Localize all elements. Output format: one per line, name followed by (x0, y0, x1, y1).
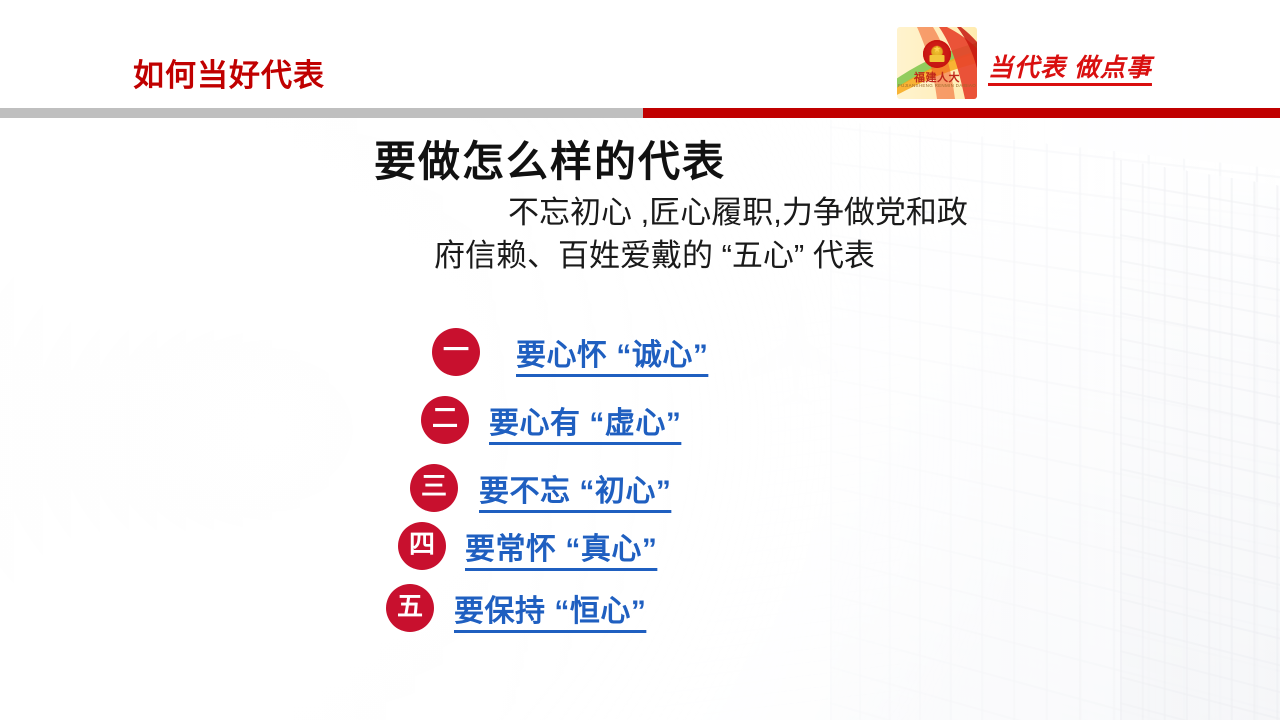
number-badge: 二 (421, 396, 469, 444)
brand-slogan: 当代表 做点事 (988, 48, 1152, 84)
emblem-star-icon: ★ (933, 45, 941, 54)
number-badge: 五 (386, 584, 434, 632)
slide-header: 如何当好代表 (0, 0, 1280, 108)
five-hearts-list: 一 要心怀 “诚心” 二 要心有 “虚心” 三 要不忘 “初心” 四 (0, 118, 1280, 720)
number-badge: 一 (432, 328, 480, 376)
list-item-label[interactable]: 要不忘 “初心” (479, 466, 671, 510)
fujian-renda-logo: ★ 福建人大 FUJIANSHENG RENMIN DAIBIAO (897, 27, 977, 99)
header-rule-red (643, 108, 1280, 118)
brand-organization-pinyin: FUJIANSHENG RENMIN DAIBIAO (897, 83, 977, 88)
header-rule-gray (0, 108, 643, 118)
list-item-label[interactable]: 要保持 “恒心” (454, 586, 646, 630)
emblem-gate-icon (930, 55, 945, 62)
slide-body: 要做怎么样的代表 不忘初心 ,匠心履职,力争做党和政府信赖、百姓爱戴的 “五心”… (0, 118, 1280, 720)
brand-lockup: ★ 福建人大 FUJIANSHENG RENMIN DAIBIAO (897, 27, 977, 99)
number-badge: 三 (410, 464, 458, 512)
slide-canvas: 如何当好代表 (0, 0, 1280, 720)
list-item-label[interactable]: 要心有 “虚心” (489, 398, 681, 442)
page-title: 如何当好代表 (133, 50, 325, 95)
number-badge-label: 一 (443, 338, 469, 364)
list-item-label[interactable]: 要常怀 “真心” (465, 524, 657, 568)
national-emblem-icon: ★ (923, 40, 951, 68)
list-item-label[interactable]: 要心怀 “诚心” (516, 330, 708, 374)
number-badge: 四 (398, 522, 446, 570)
number-badge-label: 五 (397, 594, 423, 620)
number-badge-label: 四 (409, 532, 435, 558)
number-badge-label: 三 (421, 474, 447, 500)
number-badge-label: 二 (432, 406, 458, 432)
